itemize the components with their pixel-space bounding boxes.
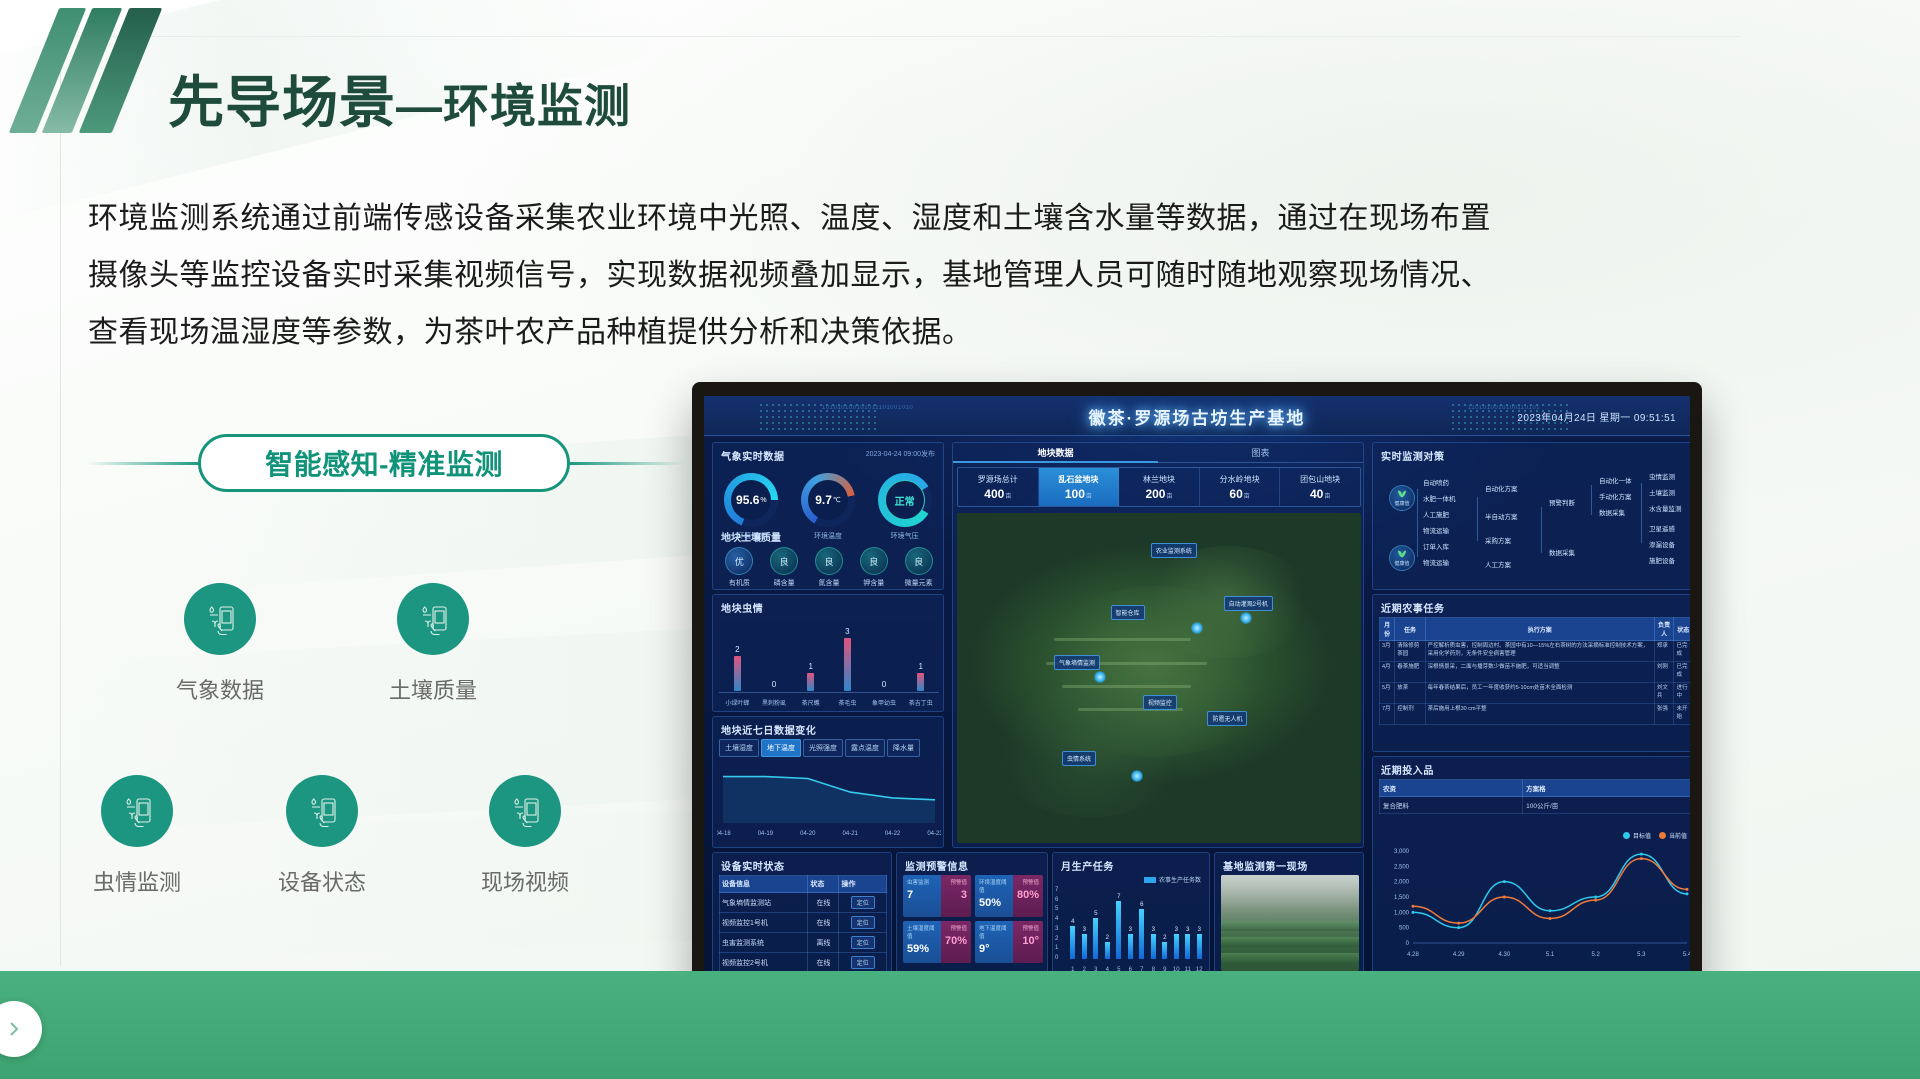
seven-day-tab[interactable]: 降水量 — [887, 739, 920, 757]
y-tick-label: 0 — [1055, 955, 1067, 961]
soil-grade-badge: 良 — [815, 547, 843, 575]
table-header-row: 月份任务执行方案负责人状态 — [1380, 618, 1691, 641]
gauge-value: 9.7 — [815, 493, 832, 507]
investment-table: 农资方案格 复合肥料100公斤/亩 — [1379, 779, 1690, 814]
warning-value: 50% — [979, 897, 1009, 909]
policy-node: 预警判断 — [1549, 497, 1575, 507]
column-header: 状态 — [808, 876, 839, 893]
gauge-ring-icon: 9.7℃ — [801, 473, 855, 527]
legend-swatch — [1659, 832, 1666, 839]
monthly-bar-item: 3 — [1148, 887, 1160, 959]
bar-value: 7 — [1117, 894, 1120, 900]
map-marker-label[interactable]: 智能仓库 — [1111, 605, 1145, 620]
device-name: 视频监控2号机 — [720, 953, 808, 973]
gauge-unit: ℃ — [833, 496, 841, 504]
map-panel: 地块数据图表 罗源场总计400亩乱石盆地块100亩林兰地块200亩分水岭地块60… — [952, 442, 1364, 848]
seven-day-tab[interactable]: 露点温度 — [845, 739, 885, 757]
threshold-label: 预警值 — [1017, 924, 1039, 932]
bar — [917, 673, 924, 691]
monthly-bar-item: 6 — [1136, 887, 1148, 959]
column-header: 操作 — [839, 876, 887, 893]
warning-card-grid: 虫害监测7预警值3环境湿度阈值50%预警值80%土壤湿度阈值59%预警值70%地… — [903, 875, 1043, 963]
health-leaf-icon: 健康值 — [1389, 485, 1415, 511]
threshold-label: 预警值 — [1017, 878, 1039, 886]
monthly-bar-item: 3 — [1079, 887, 1091, 959]
bar-value: 4 — [1071, 919, 1074, 925]
bar-value: 3 — [1129, 927, 1132, 933]
x-tick-label: 04-19 — [758, 831, 774, 837]
legend-swatch — [1623, 832, 1630, 839]
feature-item-soil[interactable]: 土壤质量 — [358, 583, 508, 705]
monthly-task-title: 月生产任务 — [1061, 858, 1114, 873]
table-cell: 已完成 — [1674, 661, 1690, 682]
policy-node: 采购方案 — [1485, 535, 1511, 545]
y-tick-label: 1,500 — [1394, 895, 1410, 901]
y-tick-label: 4 — [1055, 916, 1067, 922]
legend-label: 农事生产任务数 — [1159, 875, 1201, 884]
plot-unit: 亩 — [1086, 494, 1092, 500]
y-tick-label: 500 — [1399, 926, 1410, 932]
seven-day-tab[interactable]: 地下温度 — [761, 739, 801, 757]
feature-label: 气象数据 — [145, 673, 295, 705]
feature-label: 土壤质量 — [358, 673, 508, 705]
tree-connector — [1591, 485, 1592, 515]
table-row: 复合肥料100公斤/亩 — [1380, 797, 1691, 814]
map-pin-icon[interactable] — [1240, 612, 1252, 624]
map-tab-row[interactable]: 地块数据图表 — [953, 443, 1363, 463]
x-tick-label: 4.30 — [1498, 952, 1510, 958]
bar — [1093, 918, 1098, 959]
policy-node: 数据采集 — [1549, 547, 1575, 557]
plot-name: 团包山地块 — [1300, 474, 1340, 485]
table-row: 4月春茶施肥深根情景采，二面与播芽数少做苗不施肥，可适当调整刘刚已完成 — [1380, 661, 1691, 682]
feature-label: 虫情监测 — [62, 865, 212, 897]
table-cell: 3月 — [1380, 641, 1395, 662]
bar-category-label: 黑刺粉虱 — [756, 698, 793, 707]
table-cell: 控制剂 — [1395, 703, 1425, 724]
policy-node: 数据采集 — [1599, 507, 1625, 517]
warning-current: 环境湿度阈值50% — [975, 875, 1013, 917]
bar-value: 0 — [772, 680, 776, 689]
table-cell: 茶后施用上根30 cm平整 — [1425, 703, 1654, 724]
map-marker-label[interactable]: 自动灌溉2号机 — [1224, 596, 1273, 611]
pest-bar-item: 1 — [792, 617, 829, 691]
table-cell: 郑承 — [1654, 641, 1674, 662]
warning-value: 9° — [979, 943, 1009, 955]
bar-value: 3 — [1152, 927, 1155, 933]
warning-value: 59% — [907, 943, 937, 955]
section-label-group: 智能感知-精准监测 — [86, 434, 686, 492]
soil-item-label: 磷含量 — [774, 578, 795, 588]
policy-node: 施肥设备 — [1649, 555, 1675, 565]
map-tab[interactable]: 图表 — [1158, 443, 1363, 463]
health-label: 健康值 — [1394, 560, 1409, 567]
monthly-bar-item: 7 — [1113, 887, 1125, 959]
table-cell: 已完成 — [1674, 641, 1690, 662]
pest-category-labels: 小绿叶蝉黑刺粉虱茶尺蠖茶毛虫象甲幼虫茶吉丁虫 — [719, 698, 939, 707]
plot-card[interactable]: 团包山地块40亩 — [1280, 468, 1360, 506]
section-label-pill: 智能感知-精准监测 — [198, 434, 570, 492]
table-row: 虫害监测系统离线定位 — [720, 933, 887, 953]
tree-connector — [1641, 483, 1642, 543]
plot-unit: 亩 — [1244, 494, 1250, 500]
pest-bar-item: 0 — [866, 617, 903, 691]
table-row: 气象墒情监测站在线定位 — [720, 893, 887, 913]
bar-category-label: 象甲幼虫 — [866, 698, 903, 707]
x-tick-label: 4.28 — [1407, 952, 1419, 958]
table-cell: 7月 — [1380, 703, 1395, 724]
device-action-cell: 定位 — [839, 953, 887, 973]
plot-area: 40亩 — [1310, 487, 1330, 501]
y-tick-label: 1 — [1055, 945, 1067, 951]
plot-name: 林兰地块 — [1143, 474, 1175, 485]
monthly-bar-item: 2 — [1159, 887, 1171, 959]
device-action-cell: 定位 — [839, 893, 887, 913]
policy-node: 水含量监测 — [1649, 503, 1682, 513]
warning-current: 虫害监测7 — [903, 875, 941, 917]
table-row: 视频监控2号机在线定位 — [720, 953, 887, 973]
tree-connector — [1541, 507, 1542, 553]
warning-label: 虫害监测 — [907, 878, 937, 886]
x-tick-label: 5.4 — [1683, 952, 1690, 958]
map-marker-label[interactable]: 视频监控 — [1143, 695, 1177, 710]
plot-area: 100亩 — [1065, 487, 1092, 501]
plot-area: 200亩 — [1145, 487, 1172, 501]
y-tick-label: 3 — [1055, 926, 1067, 932]
bar-value: 1 — [808, 662, 812, 671]
gauge-pressure: 正常 环境气压 — [866, 467, 943, 547]
warning-card: 地下温度阈值9°预警值10° — [975, 921, 1043, 963]
map-marker-label[interactable]: 气象墒情监测 — [1054, 655, 1100, 670]
warning-card: 环境湿度阈值50%预警值80% — [975, 875, 1043, 917]
feature-label: 设备状态 — [247, 865, 397, 897]
table-cell: 5月 — [1380, 682, 1395, 703]
plant-sensor-icon — [489, 775, 561, 847]
column-header: 负责人 — [1654, 618, 1674, 641]
table-cell: 进行中 — [1674, 682, 1690, 703]
gauge-unit: % — [760, 497, 766, 504]
pill-line-left — [86, 462, 204, 465]
plot-card[interactable]: 林兰地块200亩 — [1119, 468, 1200, 506]
locate-button[interactable]: 定位 — [851, 916, 875, 929]
gauge-ring-icon: 正常 — [878, 473, 932, 527]
policy-node: 物流运输 — [1423, 557, 1449, 567]
table-row: 5月放茶每年春茶结果后，员工一年度收获约5-10cm处苗木全面检测刘文兵进行中 — [1380, 682, 1691, 703]
x-tick-label: 04-21 — [843, 831, 859, 837]
plot-card[interactable]: 罗源场总计400亩 — [958, 468, 1039, 506]
policy-node: 物流运输 — [1423, 525, 1449, 535]
map-marker-label[interactable]: 农业监测系统 — [1151, 543, 1197, 558]
monthly-task-panel: 月生产任务 农事生产任务数 01234567 435273632333 1234… — [1052, 852, 1210, 978]
bar — [1082, 934, 1087, 959]
warning-value: 7 — [907, 889, 937, 901]
bottom-green-band — [0, 971, 1920, 1079]
warning-label: 土壤湿度阈值 — [907, 924, 937, 940]
device-name: 视频监控1号机 — [720, 913, 808, 933]
bar-value: 3 — [1198, 927, 1201, 933]
bar — [844, 638, 851, 691]
device-status: 在线 — [808, 893, 839, 913]
y-tick-label: 6 — [1055, 897, 1067, 903]
soil-item-label: 钾含量 — [863, 578, 884, 588]
policy-node: 自动喷药 — [1423, 477, 1449, 487]
column-header: 农资 — [1380, 780, 1523, 797]
policy-node: 订单入库 — [1423, 541, 1449, 551]
table-cell: 深根情景采，二面与播芽数少做苗不施肥，可适当调整 — [1425, 661, 1654, 682]
plant-sensor-icon — [184, 583, 256, 655]
tree-connector — [1417, 489, 1418, 490]
bar — [734, 656, 741, 691]
investment-line-chart: 3,0002,5002,0001,5001,00050004.284.294.3… — [1377, 843, 1690, 961]
plant-sensor-icon — [397, 583, 469, 655]
soil-grade-badge: 良 — [770, 547, 798, 575]
feature-item-device[interactable]: 设备状态 — [247, 775, 397, 897]
legend-item: 目标值 — [1623, 831, 1651, 840]
top-divider — [60, 36, 1740, 37]
health-label: 健康值 — [1394, 500, 1409, 507]
monthly-bar-item: 3 — [1182, 887, 1194, 959]
plot-card[interactable]: 乱石盆地块100亩 — [1039, 468, 1120, 506]
bar-value: 3 — [1083, 927, 1086, 933]
threshold-value: 10° — [1017, 935, 1039, 947]
plot-area: 400亩 — [984, 487, 1011, 501]
table-cell: 100公斤/亩 — [1523, 797, 1690, 814]
table-cell: 刘刚 — [1654, 661, 1674, 682]
soil-item: 优 有机质 — [717, 547, 762, 588]
device-action-cell: 定位 — [839, 933, 887, 953]
warning-current: 土壤湿度阈值59% — [903, 921, 941, 963]
device-status: 在线 — [808, 913, 839, 933]
gauge-label: 环境温度 — [814, 531, 842, 541]
table-cell: 严控解析质虫害，控制周边村、茶园中有10—15%左右茶树的方法采摘标准控制技术方… — [1425, 641, 1654, 662]
bar — [1105, 942, 1110, 959]
locate-button[interactable]: 定位 — [851, 956, 875, 969]
threshold-value: 70% — [945, 935, 967, 947]
bar-category-label: 茶吉丁虫 — [902, 698, 939, 707]
weather-published-time: 2023-04-24 09:00发布 — [866, 449, 935, 459]
plot-selector-row[interactable]: 罗源场总计400亩乱石盆地块100亩林兰地块200亩分水岭地块60亩团包山地块4… — [957, 467, 1361, 507]
warning-threshold: 预警值80% — [1013, 875, 1043, 917]
y-tick-label: 5 — [1055, 906, 1067, 912]
warning-card: 土壤湿度阈值59%预警值70% — [903, 921, 971, 963]
bar — [1070, 926, 1075, 959]
policy-panel: 实时监测对策 自动喷药水肥一体机人工施肥物流运输订单入库物流运输自动化方案半自动… — [1372, 442, 1690, 590]
legend-item: 当前值 — [1659, 831, 1687, 840]
legend-swatch — [1144, 877, 1156, 883]
legend-label: 当前值 — [1669, 831, 1687, 840]
bar-value: 2 — [735, 645, 739, 654]
feature-item-video[interactable]: 现场视频 — [450, 775, 600, 897]
table-row: 7月控制剂茶后施用上根30 cm平整张强未开始 — [1380, 703, 1691, 724]
bar-value: 3 — [845, 627, 849, 636]
policy-node: 半自动方案 — [1485, 511, 1518, 521]
table-cell: 每年春茶结果后，员工一年度收获约5-10cm处苗木全面检测 — [1425, 682, 1654, 703]
monthly-bar-item: 3 — [1125, 887, 1137, 959]
policy-node: 水肥一体机 — [1423, 493, 1456, 503]
table-row: 视频监控1号机在线定位 — [720, 913, 887, 933]
brand-chevron-logo — [34, 8, 164, 133]
dashboard-screen: 101010100101011101001010 110101001010011… — [704, 396, 1690, 1002]
column-header: 设备信息 — [720, 876, 808, 893]
device-name: 气象墒情监测站 — [720, 893, 808, 913]
policy-node: 手动化方案 — [1599, 491, 1632, 501]
soil-item: 良 磷含量 — [762, 547, 807, 588]
monthly-bar-item: 2 — [1102, 887, 1114, 959]
bar-value: 5 — [1094, 911, 1097, 917]
bar — [1197, 934, 1202, 959]
y-tick-label: 2,000 — [1394, 880, 1410, 886]
bar-value: 1 — [918, 662, 922, 671]
weather-panel: 气象实时数据 2023-04-24 09:00发布 95.6% 环境湿度 9.7… — [712, 442, 944, 590]
dashboard-header: 101010100101011101001010 110101001010011… — [704, 396, 1690, 436]
y-tick-label: 2 — [1055, 936, 1067, 942]
live-camera-panel: 基地监测第一现场 — [1214, 852, 1364, 978]
plant-sensor-icon — [286, 775, 358, 847]
pest-bar-chart: 201301 — [719, 617, 939, 691]
plot-unit: 亩 — [1166, 494, 1172, 500]
pill-line-right — [566, 462, 684, 465]
monthly-bar-item: 5 — [1090, 887, 1102, 959]
left-divider — [60, 36, 61, 966]
farm-task-title: 近期农事任务 — [1381, 600, 1445, 615]
feature-label: 现场视频 — [450, 865, 600, 897]
bar — [1116, 901, 1121, 959]
dashboard-datetime: 2023年04月24日 星期一 09:51:51 — [1517, 409, 1676, 424]
description-paragraph: 环境监测系统通过前端传感设备采集农业环境中光照、温度、湿度和土壤含水量等数据，通… — [88, 190, 1508, 361]
pest-bar-item: 1 — [902, 617, 939, 691]
chevron-right-icon — [5, 1020, 23, 1038]
bar — [1128, 934, 1133, 959]
x-tick-label: 04-20 — [800, 831, 816, 837]
device-status-table: 设备信息状态操作 气象墒情监测站在线定位视频监控1号机在线定位虫害监测系统离线定… — [719, 875, 887, 973]
feature-item-weather[interactable]: 气象数据 — [145, 583, 295, 705]
health-leaf-icon: 健康值 — [1389, 545, 1415, 571]
table-cell: 复合肥料 — [1380, 797, 1523, 814]
bar — [1139, 909, 1144, 959]
x-tick-label: 5.2 — [1591, 952, 1600, 958]
warning-card: 虫害监测7预警值3 — [903, 875, 971, 917]
table-cell: 刘文兵 — [1654, 682, 1674, 703]
soil-item: 良 微量元素 — [896, 547, 941, 588]
bar-value: 2 — [1163, 935, 1166, 941]
x-tick-label: 04-23 — [927, 831, 941, 837]
aerial-map-image[interactable]: 农业监测系统 智能仓库 自动灌溉2号机 气象墒情监测 视频监控 防雹无人机 虫情… — [957, 513, 1361, 843]
device-name: 虫害监测系统 — [720, 933, 808, 953]
y-tick-label: 0 — [1406, 941, 1410, 947]
table-cell: 清除修剪茶园 — [1395, 641, 1425, 662]
policy-node: 渗漏设备 — [1649, 539, 1675, 549]
table-header-row: 设备信息状态操作 — [720, 876, 887, 893]
policy-node: 自动化方案 — [1485, 483, 1518, 493]
investment-title: 近期投入品 — [1381, 762, 1434, 777]
legend-label: 目标值 — [1633, 831, 1651, 840]
page-title-main: 先导场景 — [168, 71, 396, 134]
plot-name: 分水岭地块 — [1220, 474, 1260, 485]
threshold-value: 3 — [945, 889, 967, 901]
warning-current: 地下温度阈值9° — [975, 921, 1013, 963]
locate-button[interactable]: 定位 — [851, 896, 875, 909]
soil-quality-title: 地块土壤质量 — [721, 529, 781, 544]
monthly-y-axis: 01234567 — [1055, 887, 1067, 961]
bar-category-label: 小绿叶蝉 — [719, 698, 756, 707]
gauge-label: 环境气压 — [891, 531, 919, 541]
gauge-ring-icon: 95.6% — [724, 473, 778, 527]
y-tick-label: 7 — [1055, 887, 1067, 893]
seven-day-line-chart: 04-1804-1904-2004-2104-2204-23 — [717, 761, 941, 839]
monthly-legend: 农事生产任务数 — [1144, 875, 1201, 884]
bar — [1162, 942, 1167, 959]
soil-grade-badge: 优 — [725, 547, 753, 575]
y-tick-label: 3,000 — [1394, 849, 1410, 855]
column-header: 状态 — [1674, 618, 1690, 641]
threshold-label: 预警值 — [945, 924, 967, 932]
plot-area: 60亩 — [1229, 487, 1249, 501]
tree-connector — [1477, 497, 1478, 541]
column-header: 执行方案 — [1425, 618, 1654, 641]
soil-grade-badge: 良 — [860, 547, 888, 575]
table-cell: 春茶施肥 — [1395, 661, 1425, 682]
map-marker-label[interactable]: 虫情系统 — [1062, 751, 1096, 766]
map-tab[interactable]: 地块数据 — [953, 443, 1158, 463]
seven-day-tab[interactable]: 光照强度 — [803, 739, 843, 757]
warning-threshold: 预警值10° — [1013, 921, 1043, 963]
bar-category-label: 茶尺蠖 — [792, 698, 829, 707]
soil-item: 良 氮含量 — [807, 547, 852, 588]
table-body: 复合肥料100公斤/亩 — [1380, 797, 1691, 814]
pest-bar-item: 0 — [756, 617, 793, 691]
page-title: 先导场景—环境监测 — [168, 58, 631, 139]
threshold-value: 80% — [1017, 889, 1039, 901]
x-tick-label: 04-22 — [885, 831, 901, 837]
bar — [807, 673, 814, 691]
device-status-panel: 设备实时状态 设备信息状态操作 气象墒情监测站在线定位视频监控1号机在线定位虫害… — [712, 852, 892, 978]
x-tick-label: 5.1 — [1546, 952, 1555, 958]
seven-day-tabs[interactable]: 土壤湿度地下温度光照强度露点温度降水量 — [719, 739, 920, 757]
column-header: 方案格 — [1523, 780, 1690, 797]
tree-connector — [1417, 489, 1418, 557]
pest-axis-line — [719, 692, 939, 693]
locate-button[interactable]: 定位 — [851, 936, 875, 949]
feature-item-pest[interactable]: 虫情监测 — [62, 775, 212, 897]
pest-chart-title: 地块虫情 — [721, 600, 763, 615]
gauge-value: 正常 — [895, 493, 915, 508]
soil-item-label: 氮含量 — [818, 578, 839, 588]
soil-grade-badge: 良 — [905, 547, 933, 575]
bar-value: 3 — [1186, 927, 1189, 933]
table-cell: 放茶 — [1395, 682, 1425, 703]
map-marker-label[interactable]: 防雹无人机 — [1207, 711, 1247, 726]
device-status: 离线 — [808, 933, 839, 953]
gauge-value: 95.6 — [736, 493, 759, 507]
bar-value: 2 — [1106, 935, 1109, 941]
warning-label: 环境湿度阈值 — [979, 878, 1009, 894]
bar — [1174, 934, 1179, 959]
live-camera-image[interactable] — [1221, 875, 1359, 971]
table-cell: 4月 — [1380, 661, 1395, 682]
x-tick-label: 04-18 — [717, 831, 731, 837]
seven-day-tab[interactable]: 土壤湿度 — [719, 739, 759, 757]
table-body: 气象墒情监测站在线定位视频监控1号机在线定位虫害监测系统离线定位视频监控2号机在… — [720, 893, 887, 973]
investment-panel: 近期投入品 农资方案格 复合肥料100公斤/亩 目标值当前值 3,0002,50… — [1372, 756, 1690, 978]
plot-card[interactable]: 分水岭地块60亩 — [1200, 468, 1281, 506]
dashboard-monitor-frame: 101010100101011101001010 110101001010011… — [692, 382, 1702, 1030]
seven-day-panel: 地块近七日数据变化 土壤湿度地下温度光照强度露点温度降水量 04-1804-19… — [712, 716, 944, 848]
farm-task-table: 月份任务执行方案负责人状态 3月清除修剪茶园严控解析质虫害，控制周边村、茶园中有… — [1379, 617, 1690, 725]
pest-bar-item: 3 — [829, 617, 866, 691]
monthly-bar-item: 4 — [1067, 887, 1079, 959]
policy-node: 人工施肥 — [1423, 509, 1449, 519]
plot-unit: 亩 — [1005, 494, 1011, 500]
